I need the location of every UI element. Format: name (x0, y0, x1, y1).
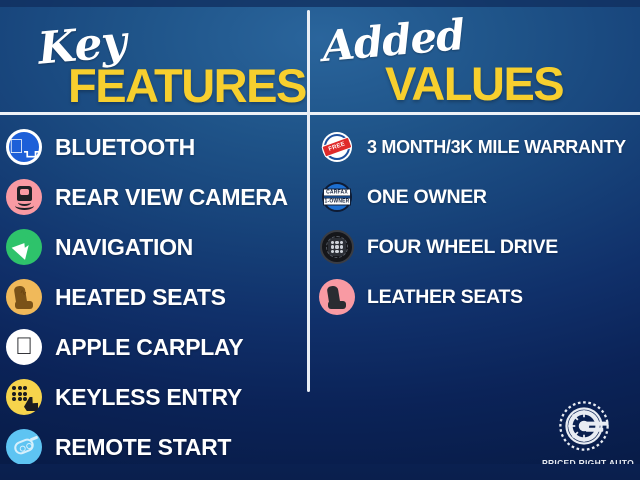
list-item: KEYLESS ENTRY (0, 372, 307, 422)
list-item-label: KEYLESS ENTRY (55, 384, 242, 411)
list-item: REAR VIEW CAMERA (0, 172, 307, 222)
left-header-script: Key (36, 16, 128, 74)
list-item: FOUR WHEEL DRIVE (310, 222, 640, 272)
bluetooth-icon: ⍽ (5, 128, 43, 166)
key-features-list: ⍽ BLUETOOTH REAR VIEW CAMERA NAVIGATION (0, 122, 307, 472)
added-values-list: FREE 3 MONTH/3K MILE WARRANTY CARFAX 1-O… (310, 122, 640, 322)
dealer-logo: PRICED RIGHT AUTO (542, 398, 626, 468)
gear-wheel-emblem-icon (556, 398, 612, 454)
keyless-entry-icon (5, 378, 43, 416)
list-item-label: APPLE CARPLAY (55, 334, 243, 361)
bottom-band (0, 464, 640, 480)
carfax-line-2: 1-OWNER (323, 198, 351, 206)
carfax-line-1: CARFAX (323, 189, 351, 197)
list-item: FREE 3 MONTH/3K MILE WARRANTY (310, 122, 640, 172)
apple-carplay-icon:  (5, 328, 43, 366)
list-item:  APPLE CARPLAY (0, 322, 307, 372)
list-item: CARFAX 1-OWNER ONE OWNER (310, 172, 640, 222)
carfax-owner-icon: CARFAX 1-OWNER (318, 178, 356, 216)
list-item-label: NAVIGATION (55, 234, 193, 261)
rear-view-camera-icon (5, 178, 43, 216)
list-item-label: REMOTE START (55, 434, 231, 461)
list-item: ∿ HEATED SEATS (0, 272, 307, 322)
list-item-label: ONE OWNER (367, 186, 487, 209)
list-item-label: LEATHER SEATS (367, 286, 523, 309)
list-item: NAVIGATION (0, 222, 307, 272)
list-item-label: HEATED SEATS (55, 284, 226, 311)
remote-start-icon (5, 428, 43, 466)
list-item: LEATHER SEATS (310, 272, 640, 322)
list-item-label: BLUETOOTH (55, 134, 195, 161)
free-badge-icon: FREE (318, 128, 356, 166)
list-item: ⍽ BLUETOOTH (0, 122, 307, 172)
list-item-label: 3 MONTH/3K MILE WARRANTY (367, 137, 626, 158)
navigation-icon (5, 228, 43, 266)
right-panel-header: Added VALUES (310, 0, 640, 112)
leather-seat-icon (318, 278, 356, 316)
wheel-icon (318, 228, 356, 266)
promo-canvas: Key FEATURES Added VALUES ⍽ BLUETOOTH R… (0, 0, 640, 480)
list-item-label: FOUR WHEEL DRIVE (367, 236, 558, 259)
right-header-block: VALUES (385, 56, 563, 111)
left-panel-header: Key FEATURES (0, 0, 307, 112)
list-item-label: REAR VIEW CAMERA (55, 184, 288, 211)
heated-seats-icon: ∿ (5, 278, 43, 316)
